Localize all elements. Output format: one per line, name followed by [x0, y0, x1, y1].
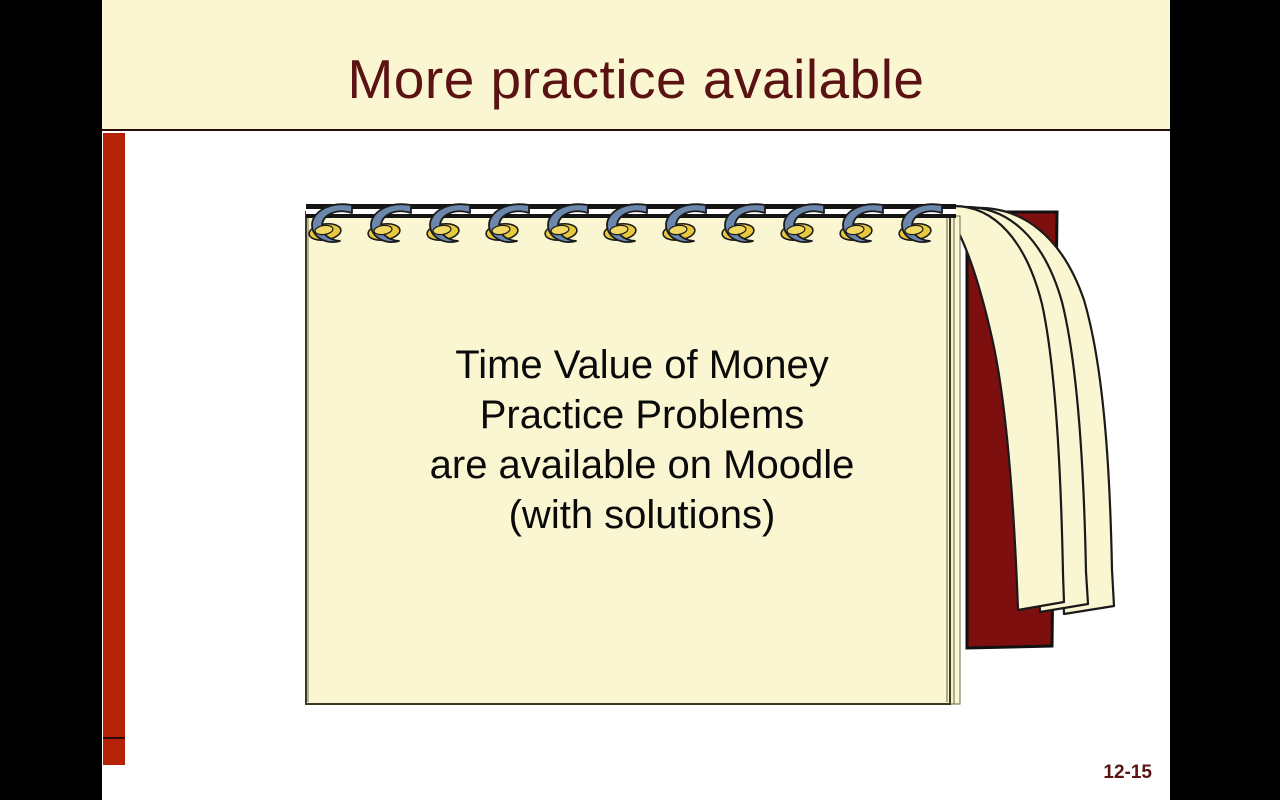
notepad-line-3: are available on Moodle — [312, 440, 972, 490]
notepad-text-block: Time Value of Money Practice Problems ar… — [312, 340, 972, 540]
slide-canvas: More practice available — [102, 0, 1170, 800]
page-number: 12-15 — [1032, 762, 1152, 784]
notepad-line-1: Time Value of Money — [312, 340, 972, 390]
notepad-line-4: (with solutions) — [312, 490, 972, 540]
left-accent-bar — [103, 133, 125, 765]
letterbox-right — [1170, 0, 1280, 800]
letterbox-left — [0, 0, 102, 800]
notepad-illustration: Time Value of Money Practice Problems ar… — [102, 0, 1170, 800]
notepad-line-2: Practice Problems — [312, 390, 972, 440]
accent-bar-divider — [103, 737, 125, 739]
slide-root: More practice available — [0, 0, 1280, 800]
